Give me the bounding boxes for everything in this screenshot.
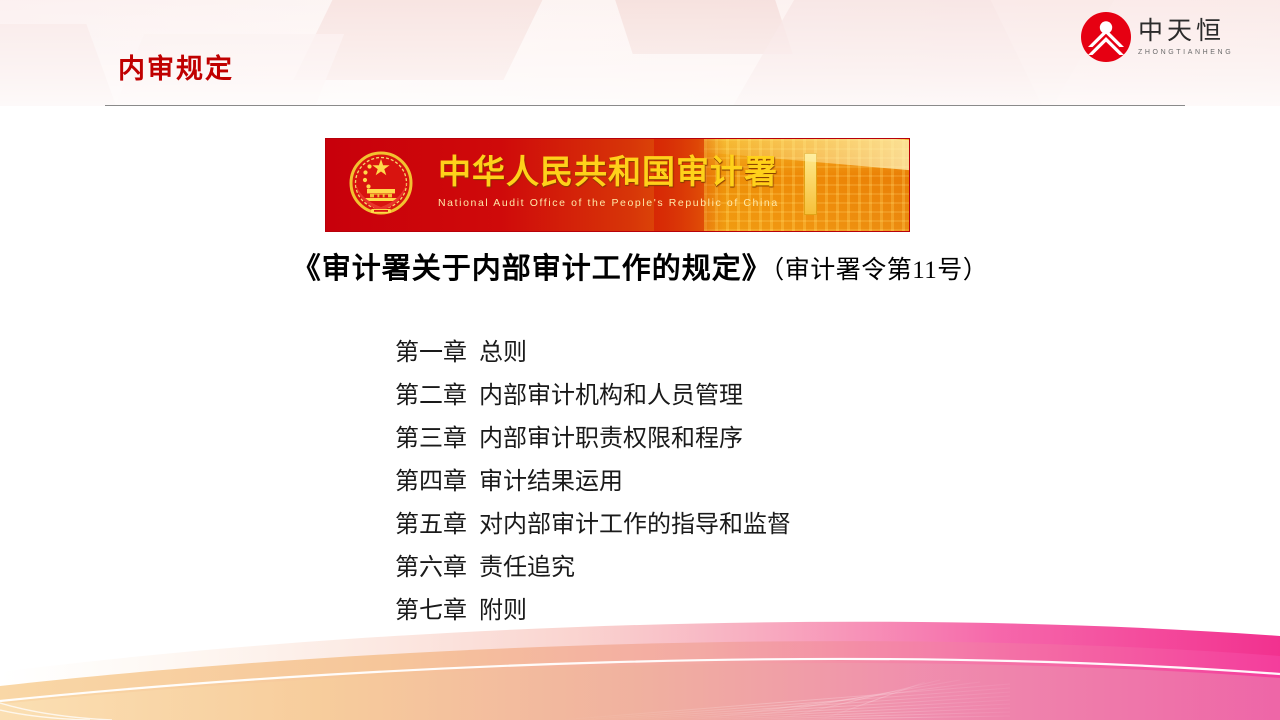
national-audit-office-banner: 中华人民共和国审计署 National Audit Office of the … xyxy=(325,138,910,232)
logo-wordmark: 中天恒 ZHONGTIANHENG xyxy=(1138,19,1233,56)
banner-title-cn: 中华人民共和国审计署 xyxy=(438,155,838,188)
logo-name-en: ZHONGTIANHENG xyxy=(1138,49,1233,56)
chapter-number: 第一章 xyxy=(395,340,467,366)
list-item: 第三章内部审计职责权限和程序 xyxy=(395,418,1095,461)
chapter-number: 第七章 xyxy=(395,598,467,624)
chapter-list: 第一章总则 第二章内部审计机构和人员管理 第三章内部审计职责权限和程序 第四章审… xyxy=(395,332,1095,633)
list-item: 第四章审计结果运用 xyxy=(395,461,1095,504)
list-item: 第一章总则 xyxy=(395,332,1095,375)
chapter-number: 第三章 xyxy=(395,426,467,452)
chapter-number: 第二章 xyxy=(395,383,467,409)
title-divider xyxy=(105,105,1185,106)
slide-canvas: 内审规定 中天恒 ZHONGTIANHENG xyxy=(0,0,1280,720)
chapter-name: 审计结果运用 xyxy=(479,469,623,495)
list-item: 第六章责任追究 xyxy=(395,547,1095,590)
list-item: 第二章内部审计机构和人员管理 xyxy=(395,375,1095,418)
company-logo: 中天恒 ZHONGTIANHENG xyxy=(1080,8,1266,66)
national-emblem-icon xyxy=(343,147,419,225)
zhongtianheng-logo-mark-icon xyxy=(1080,11,1132,63)
chapter-number: 第五章 xyxy=(395,512,467,538)
chapter-number: 第六章 xyxy=(395,555,467,581)
chapter-name: 内部审计职责权限和程序 xyxy=(479,426,743,452)
chapter-number: 第四章 xyxy=(395,469,467,495)
banner-text-block: 中华人民共和国审计署 National Audit Office of the … xyxy=(438,155,838,209)
chapter-name: 总则 xyxy=(479,340,527,366)
banner-title-en: National Audit Office of the People's Re… xyxy=(438,197,838,209)
chapter-name: 内部审计机构和人员管理 xyxy=(479,383,743,409)
chapter-name: 对内部审计工作的指导和监督 xyxy=(479,512,791,538)
chapter-name: 责任追究 xyxy=(479,555,575,581)
page-title: 内审规定 xyxy=(118,56,234,83)
chapter-name: 附则 xyxy=(479,598,527,624)
document-title: 《审计署关于内部审计工作的规定》 xyxy=(292,253,772,285)
list-item: 第五章对内部审计工作的指导和监督 xyxy=(395,504,1095,547)
logo-name-cn: 中天恒 xyxy=(1138,19,1233,44)
list-item: 第七章附则 xyxy=(395,590,1095,633)
document-decree-number: （审计署令第11号） xyxy=(772,257,989,284)
document-heading: 《审计署关于内部审计工作的规定》（审计署令第11号） xyxy=(0,255,1280,284)
